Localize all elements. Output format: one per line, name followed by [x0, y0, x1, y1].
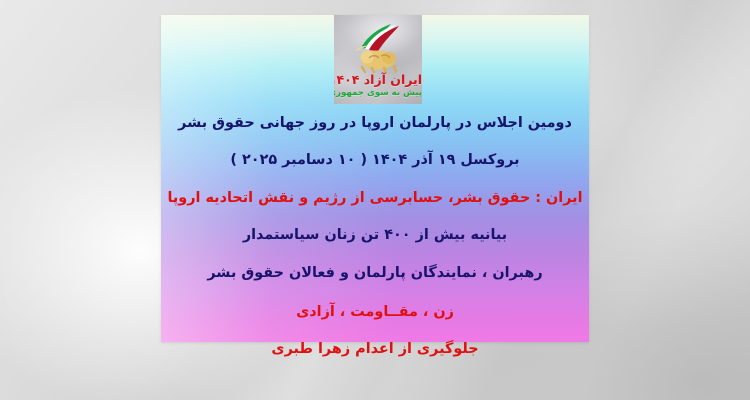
poster-line-2-date: بروکسل ۱۹ آذر ۱۴۰۴ ( ۱۰ دسامبر ۲۰۲۵ )	[161, 153, 589, 167]
poster-line-1: دومین اجلاس در پارلمان اروپا در روز جهان…	[161, 116, 589, 130]
poster-line-3-topic: ایران : حقوق بشر، حسابرسی از رژیم و نقش …	[161, 191, 589, 205]
logo-title: ایران آزاد ۱۴۰۴	[334, 72, 422, 87]
screenshot-canvas: ایران آزاد ۱۴۰۴ پیش به سوی جمهوری دموکرا…	[0, 0, 750, 400]
poster-text-block: دومین اجلاس در پارلمان اروپا در روز جهان…	[161, 116, 589, 357]
poster-line-4-statement: بیانیه بیش از ۴۰۰ تن زنان سیاستمدار	[161, 228, 589, 242]
lion-emblem-icon	[352, 43, 404, 73]
poster-line-5-participants: رهبران ، نمایندگان پارلمان و فعالان حقوق…	[161, 266, 589, 280]
poster-line-7-appeal: جلوگیری از اعدام زهرا طبری	[161, 342, 589, 356]
logo-subtitle: پیش به سوی جمهوری دموکراتیک	[334, 88, 422, 98]
poster-line-6-slogan: زن ، مقــاومت ، آزادی	[161, 305, 589, 319]
poster-slide: ایران آزاد ۱۴۰۴ پیش به سوی جمهوری دموکرا…	[161, 15, 589, 342]
logo-container: ایران آزاد ۱۴۰۴ پیش به سوی جمهوری دموکرا…	[334, 15, 422, 104]
